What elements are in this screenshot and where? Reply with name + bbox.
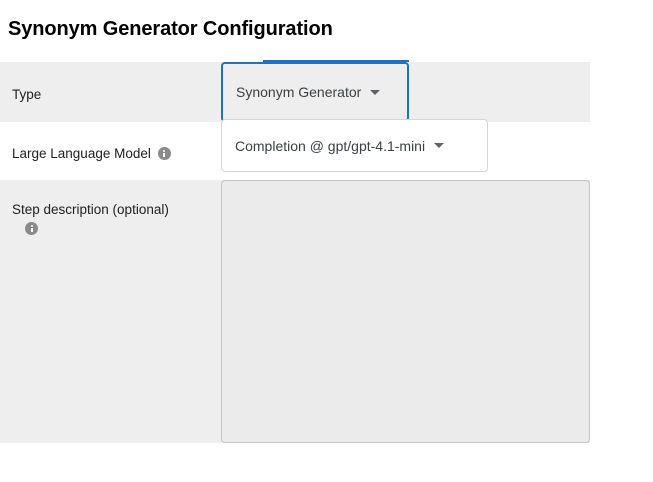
chevron-down-icon	[434, 143, 444, 148]
large-language-model-dropdown[interactable]: Completion @ gpt/gpt-4.1-mini	[221, 119, 488, 172]
form-label-type: Type	[0, 62, 221, 103]
form-label-type-text: Type	[12, 86, 41, 103]
page-title: Synonym Generator Configuration	[8, 18, 333, 41]
form-label-large-language-model-text: Large Language Model	[12, 145, 151, 162]
info-icon[interactable]	[158, 147, 171, 160]
form-label-step-description: Step description (optional)	[0, 180, 221, 239]
form-row-step-description: Step description (optional)	[0, 180, 590, 443]
type-dropdown[interactable]: Synonym Generator	[221, 62, 409, 122]
form-label-large-language-model: Large Language Model	[0, 122, 221, 162]
type-dropdown-value: Synonym Generator	[236, 84, 361, 100]
chevron-down-icon	[370, 90, 380, 95]
configuration-form: Type Synonym Generator Large Language Mo…	[0, 62, 590, 443]
form-row-large-language-model: Large Language Model Completion @ gpt/gp…	[0, 122, 590, 180]
form-label-step-description-text: Step description (optional)	[12, 201, 169, 218]
info-icon[interactable]	[25, 222, 38, 235]
form-row-type: Type Synonym Generator	[0, 62, 590, 122]
large-language-model-dropdown-value: Completion @ gpt/gpt-4.1-mini	[235, 138, 425, 154]
step-description-input[interactable]	[221, 180, 590, 443]
